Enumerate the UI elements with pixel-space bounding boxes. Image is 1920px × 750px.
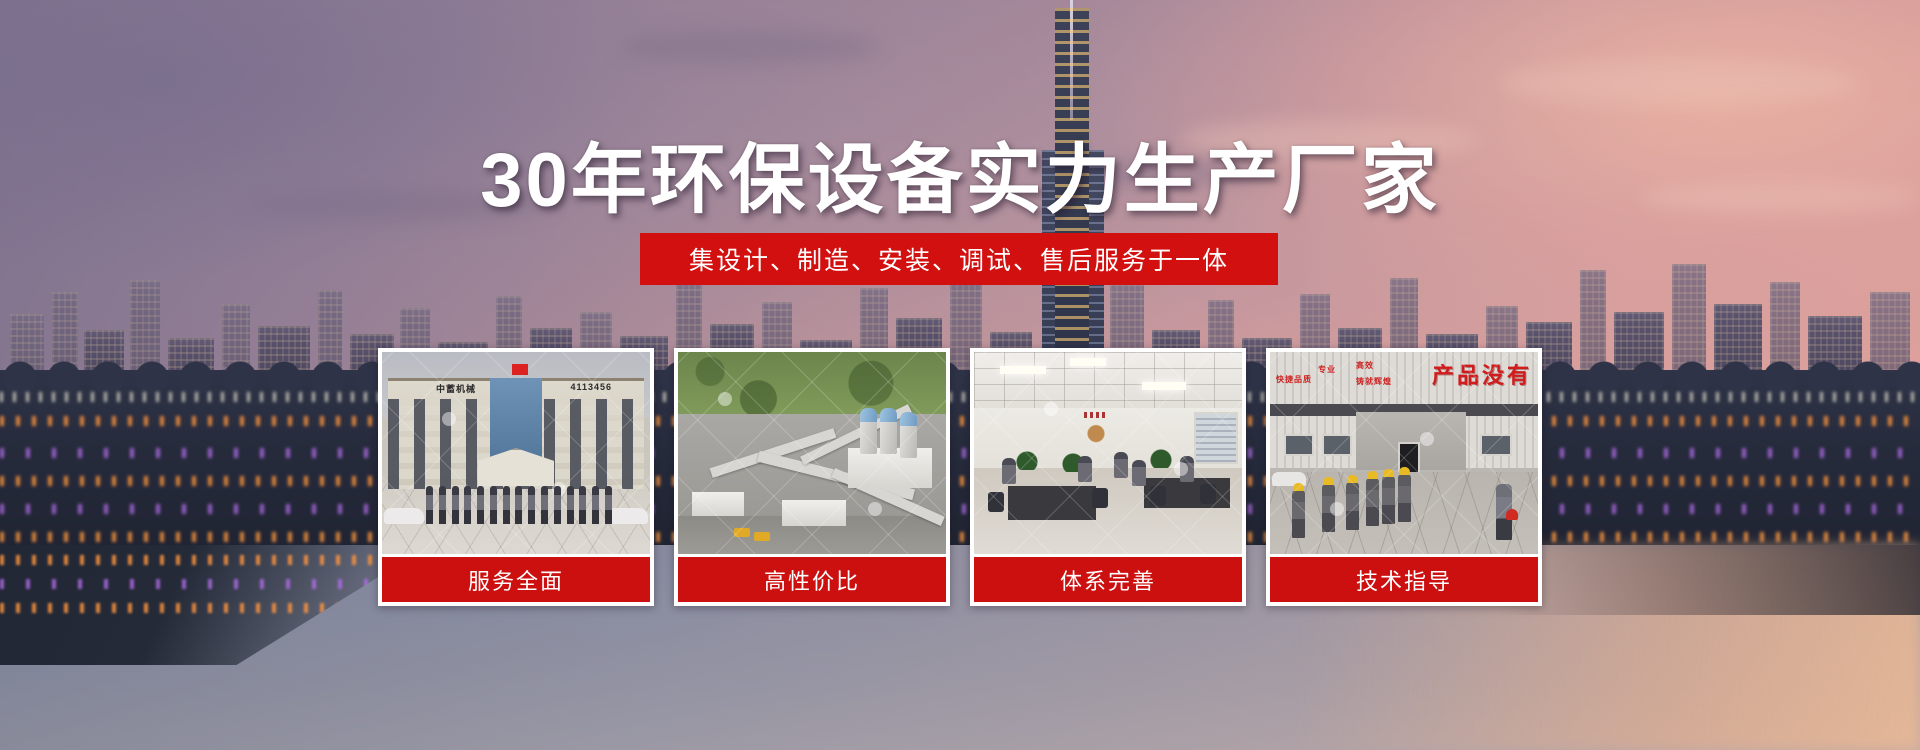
feature-card[interactable]: 中蓄机械 4113456 服务全面 (378, 348, 654, 606)
building-sign-text: 中蓄机械 (436, 382, 476, 395)
subtitle-text: 集设计、制造、安装、调试、售后服务于一体 (689, 241, 1229, 277)
cloud (1500, 60, 1860, 106)
cloud (620, 30, 880, 64)
factory-slogan-text: 快捷品质 (1276, 374, 1312, 386)
factory-slogan-text: 专业 (1318, 364, 1336, 376)
feature-card[interactable]: 高性价比 (674, 348, 950, 606)
right-river-bank (1500, 545, 1920, 615)
subtitle-banner: 集设计、制造、安装、调试、售后服务于一体 (640, 233, 1278, 285)
feature-card-caption: 体系完善 (974, 557, 1242, 602)
feature-card-caption: 服务全面 (382, 557, 650, 602)
page-title: 30年环保设备实力生产厂家 (0, 118, 1920, 228)
factory-slogan-text: 铸就辉煌 (1356, 376, 1392, 388)
feature-card-caption: 高性价比 (678, 557, 946, 602)
company-office-building-photo: 中蓄机械 4113456 (382, 352, 650, 554)
feature-card-list: 中蓄机械 4113456 服务全面 (378, 348, 1544, 606)
office-interior-staff-photo (974, 352, 1242, 554)
factory-slogan-text: 高效 (1356, 360, 1374, 372)
feature-card[interactable]: 产品没有 快捷品质 专业 高效 铸就辉煌 (1266, 348, 1542, 606)
feature-card[interactable]: 体系完善 (970, 348, 1246, 606)
feature-card-caption: 技术指导 (1270, 557, 1538, 602)
hero-banner: 30年环保设备实力生产厂家 集设计、制造、安装、调试、售后服务于一体 中蓄机械 … (0, 0, 1920, 750)
building-phone-text: 4113456 (570, 382, 612, 392)
aerial-production-plant-photo (678, 352, 946, 554)
factory-banner-text: 产品没有 (1432, 358, 1532, 390)
factory-workers-briefing-photo: 产品没有 快捷品质 专业 高效 铸就辉煌 (1270, 352, 1538, 554)
